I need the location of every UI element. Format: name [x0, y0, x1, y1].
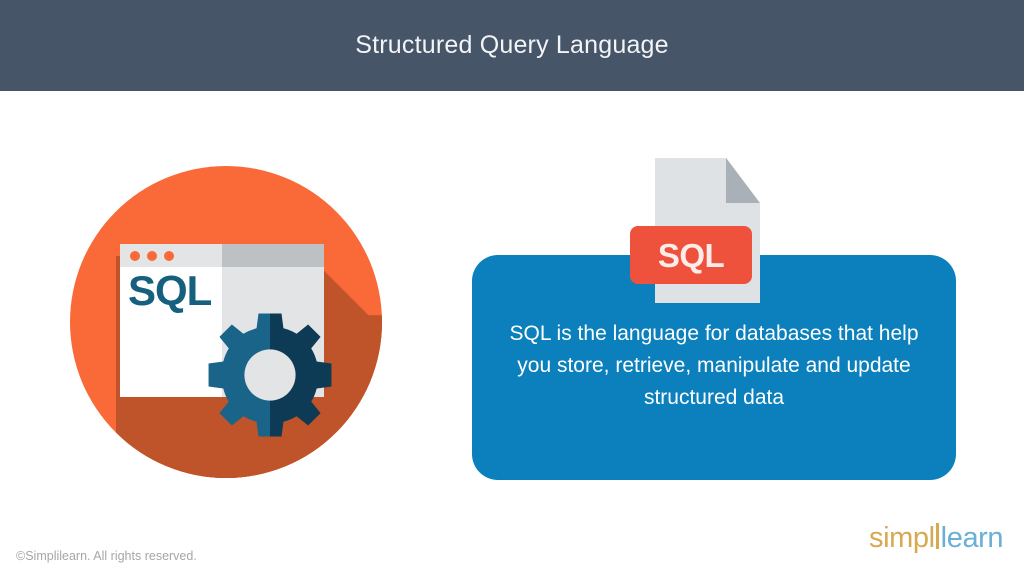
sql-badge-label: SQL: [658, 239, 724, 272]
callout-text: SQL is the language for databases that h…: [492, 318, 936, 414]
page-title: Structured Query Language: [355, 31, 669, 60]
gear-icon: [206, 311, 334, 439]
orange-circle-backdrop: SQL: [70, 166, 382, 478]
browser-titlebar-shade: [222, 244, 324, 267]
window-dot-icon: [147, 251, 157, 261]
window-sql-label: SQL: [128, 270, 211, 312]
copyright-text: ©Simplilearn. All rights reserved.: [16, 549, 197, 563]
logo-divider-icon: [936, 523, 939, 549]
logo-part-one: simpl: [869, 524, 935, 553]
sql-window-gear-icon: SQL: [70, 166, 382, 478]
window-dot-icon: [130, 251, 140, 261]
sql-file-icon: SQL: [655, 158, 760, 303]
simplilearn-logo: simpl learn: [869, 521, 1003, 553]
window-dot-icon: [164, 251, 174, 261]
logo-part-two: learn: [941, 524, 1004, 553]
slide-header: Structured Query Language: [0, 0, 1024, 91]
sql-badge: SQL: [630, 226, 752, 284]
slide-root: Structured Query Language SQL: [0, 0, 1024, 576]
